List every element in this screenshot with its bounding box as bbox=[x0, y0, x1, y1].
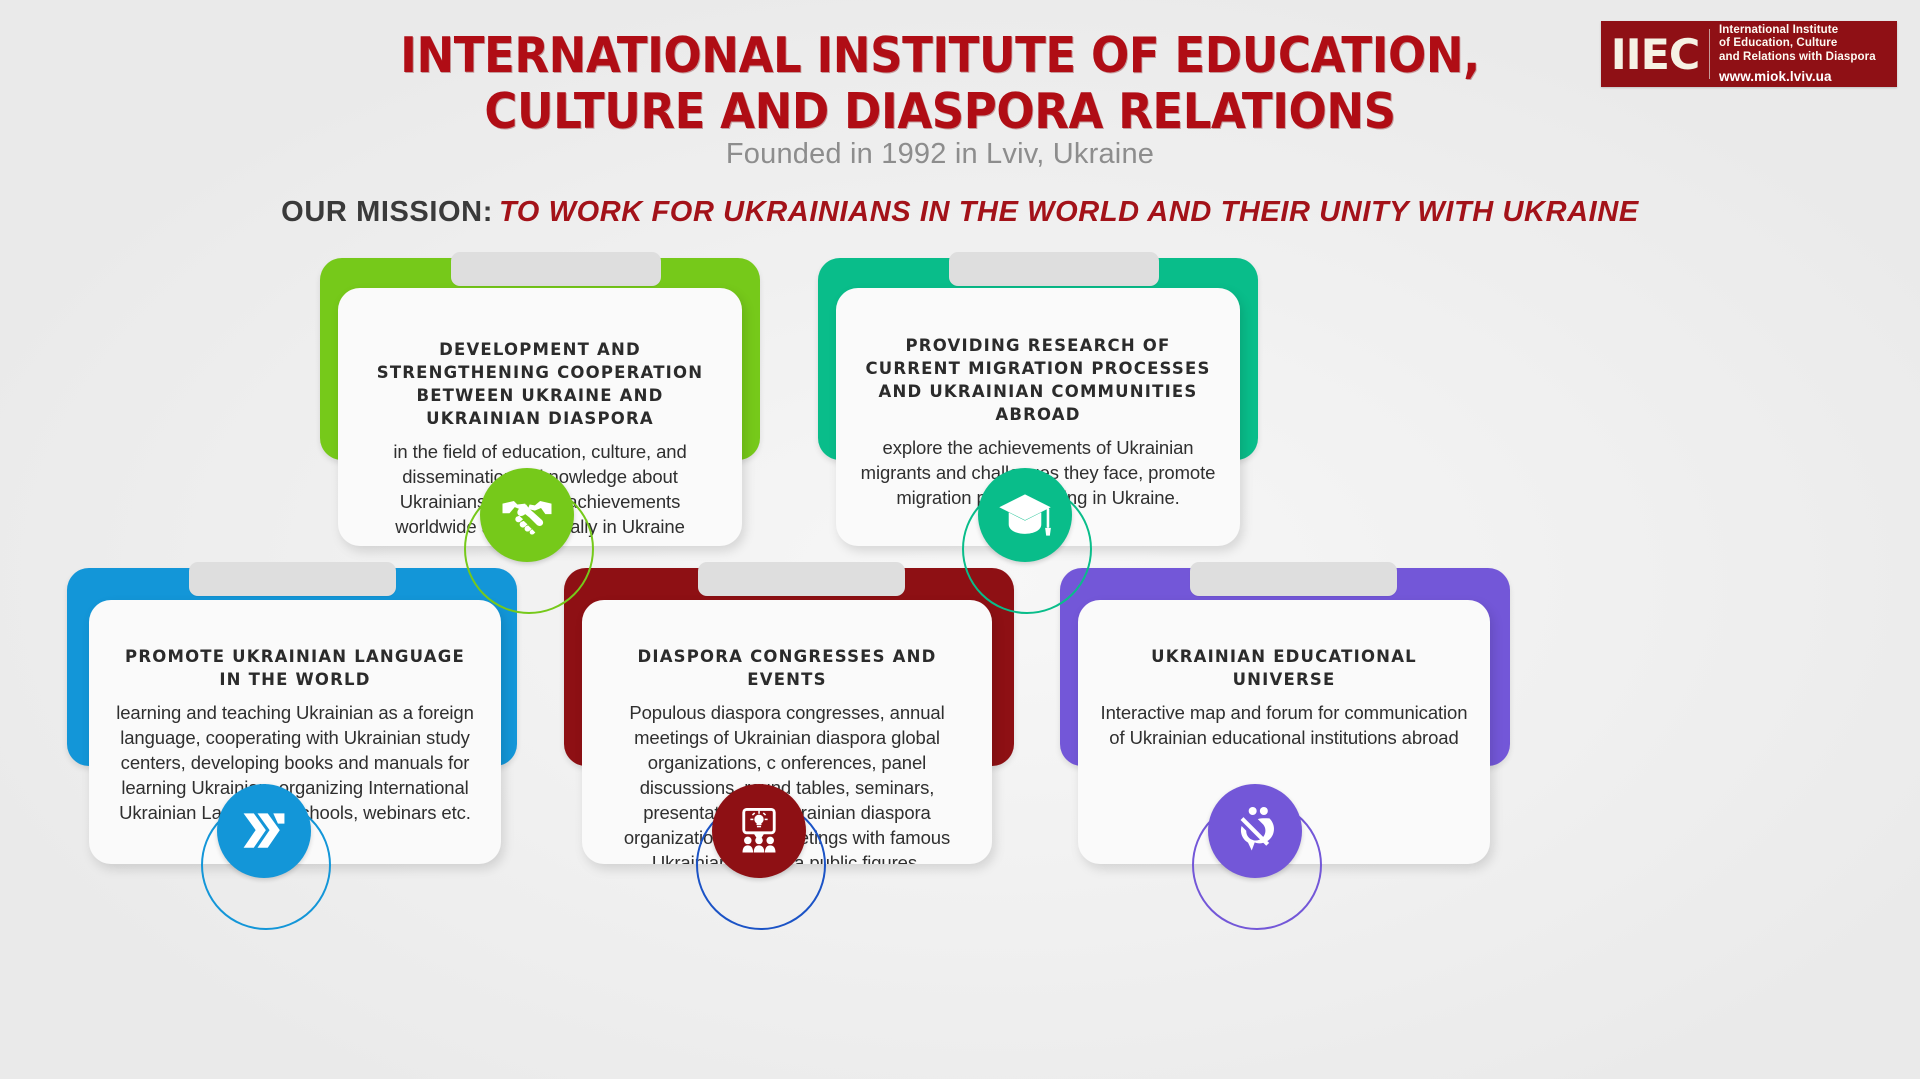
presentation-audience-icon[interactable] bbox=[712, 784, 806, 878]
logo-line-3: and Relations with Diaspora bbox=[1719, 51, 1897, 65]
page-title: INTERNATIONAL INSTITUTE OF EDUCATION, CU… bbox=[351, 28, 1529, 140]
logo-acronym: IIEC bbox=[1600, 21, 1710, 87]
card-heading: PROMOTE UKRAINIAN LANGUAGE IN THE WORLD bbox=[111, 645, 479, 691]
card-tab bbox=[698, 562, 905, 596]
card-tab bbox=[451, 252, 661, 286]
card-tab bbox=[189, 562, 396, 596]
mission-text: TO WORK FOR UKRAINIANS IN THE WORLD AND … bbox=[493, 196, 1639, 228]
page-subtitle: Founded in 1992 in Lviv, Ukraine bbox=[300, 138, 1580, 171]
mission-card-cooperation[interactable]: DEVELOPMENT AND STRENGTHENING COOPERATIO… bbox=[320, 258, 760, 578]
page-title-line-1: INTERNATIONAL INSTITUTE OF EDUCATION, bbox=[351, 28, 1529, 84]
mission-statement: OUR MISSION:TO WORK FOR UKRAINIANS IN TH… bbox=[0, 196, 1920, 229]
graduation-cap-icon[interactable] bbox=[978, 468, 1072, 562]
mission-card-language[interactable]: PROMOTE UKRAINIAN LANGUAGE IN THE WORLD … bbox=[67, 568, 517, 898]
globe-chat-icon[interactable] bbox=[1208, 784, 1302, 878]
double-chevron-icon[interactable] bbox=[217, 784, 311, 878]
handshake-icon[interactable] bbox=[480, 468, 574, 562]
card-heading: UKRAINIAN EDUCATIONAL UNIVERSE bbox=[1100, 645, 1468, 691]
logo-website-url[interactable]: www.miok.lviv.ua bbox=[1719, 69, 1897, 85]
card-text-block: UKRAINIAN EDUCATIONAL UNIVERSE Interacti… bbox=[1078, 645, 1490, 750]
card-heading: DEVELOPMENT AND STRENGTHENING COOPERATIO… bbox=[360, 338, 720, 430]
mission-card-research[interactable]: PROVIDING RESEARCH OF CURRENT MIGRATION … bbox=[818, 258, 1258, 578]
mission-card-educational-universe[interactable]: UKRAINIAN EDUCATIONAL UNIVERSE Interacti… bbox=[1060, 568, 1510, 898]
logo-line-1: International Institute bbox=[1719, 24, 1897, 38]
mission-label: OUR MISSION: bbox=[281, 196, 493, 228]
card-heading: PROVIDING RESEARCH OF CURRENT MIGRATION … bbox=[858, 334, 1218, 426]
card-heading: DIASPORA CONGRESSES AND EVENTS bbox=[604, 645, 970, 691]
card-tab bbox=[949, 252, 1159, 286]
mission-card-congresses[interactable]: DIASPORA CONGRESSES AND EVENTS Populous … bbox=[564, 568, 1014, 898]
logo-text-block: International Institute of Education, Cu… bbox=[1710, 21, 1897, 87]
page-title-line-2: CULTURE AND DIASPORA RELATIONS bbox=[351, 84, 1529, 140]
organization-logo[interactable]: IIEC International Institute of Educatio… bbox=[1601, 21, 1897, 87]
card-description: Interactive map and forum for communicat… bbox=[1100, 700, 1468, 750]
card-tab bbox=[1190, 562, 1397, 596]
logo-divider bbox=[1709, 29, 1710, 79]
logo-line-2: of Education, Culture bbox=[1719, 37, 1897, 51]
